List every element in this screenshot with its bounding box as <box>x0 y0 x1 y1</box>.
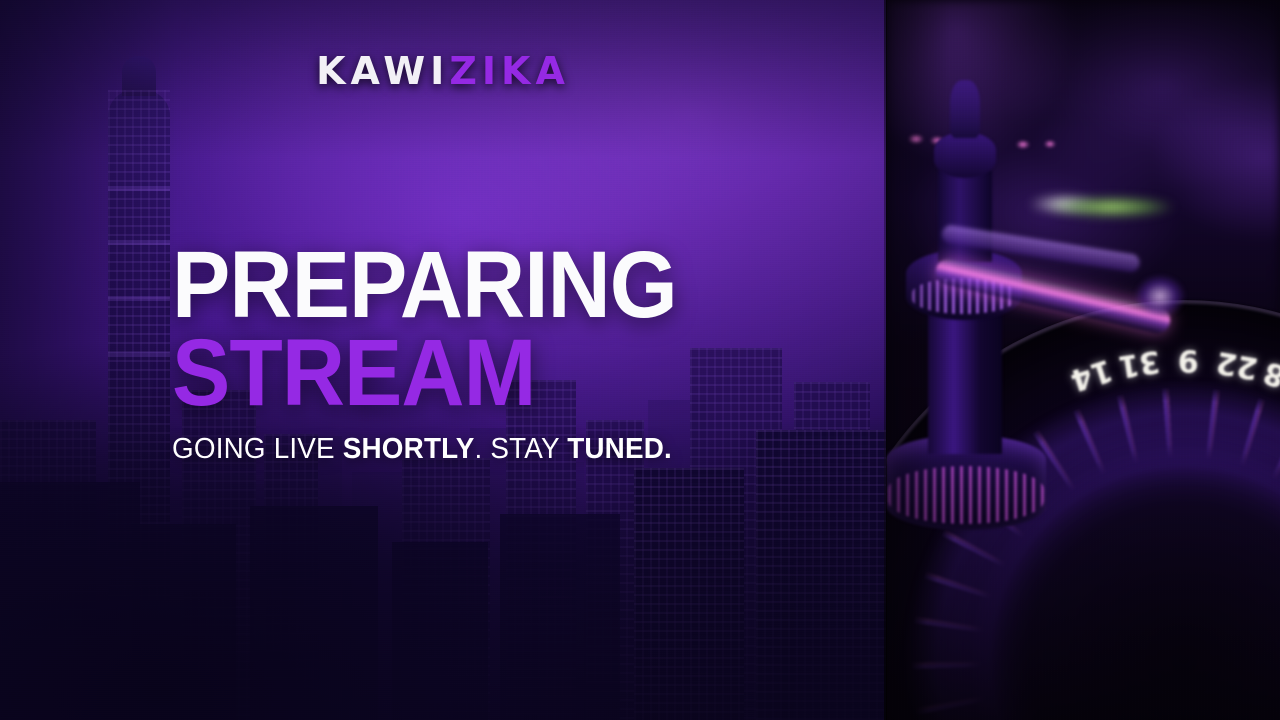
right-film-grain <box>886 0 1280 720</box>
left-content-panel: KAWIZIKA PREPARING STREAM GOING LIVE SHO… <box>0 0 886 720</box>
stream-standby-screen: KAWIZIKA PREPARING STREAM GOING LIVE SHO… <box>0 0 1280 720</box>
roulette-image-panel: 143192218297281235326 <box>886 0 1280 720</box>
subtitle-part-4: TUNED. <box>567 433 672 465</box>
headline-line-2: STREAM <box>172 332 816 416</box>
subtitle-part-1: GOING LIVE <box>172 433 343 465</box>
standby-message-block: PREPARING STREAM GOING LIVE SHORTLY. STA… <box>172 244 872 464</box>
subtitle-part-2: SHORTLY <box>343 433 475 465</box>
subtitle-line: GOING LIVE SHORTLY. STAY TUNED. <box>172 435 844 464</box>
logo-primary-text: KAWI <box>316 49 449 93</box>
subtitle-part-3: . STAY <box>475 433 568 465</box>
headline-line-1: PREPARING <box>172 244 816 328</box>
panel-divider <box>884 0 887 720</box>
logo-accent-text: ZIKA <box>449 49 570 93</box>
channel-logo: KAWIZIKA <box>0 52 886 90</box>
